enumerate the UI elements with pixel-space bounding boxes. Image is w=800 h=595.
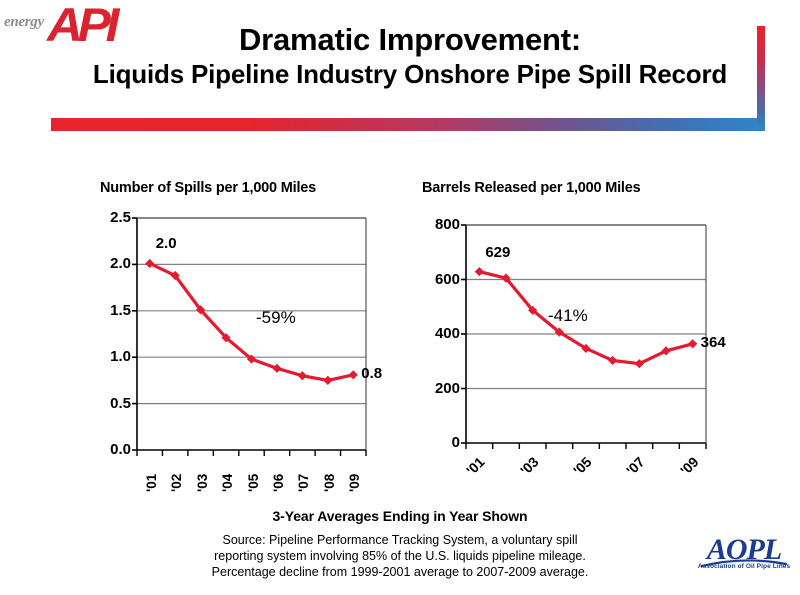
source-line-3: Percentage decline from 1999-2001 averag…: [120, 564, 680, 580]
title-line-1: Dramatic Improvement:: [60, 22, 760, 58]
x-tick-label: '03: [195, 474, 210, 492]
y-tick-label: 800: [404, 216, 460, 233]
data-point-marker: [298, 371, 307, 380]
source-note: Source: Pipeline Performance Tracking Sy…: [120, 532, 680, 580]
data-point-marker: [688, 339, 697, 348]
source-line-1: Source: Pipeline Performance Tracking Sy…: [120, 532, 680, 548]
plot-area-spills: [96, 180, 396, 500]
chart-number-of-spills: Number of Spills per 1,000 Miles 2.52.01…: [96, 180, 396, 500]
x-tick-label: '01: [144, 474, 159, 492]
y-tick-label: 1.5: [75, 302, 131, 319]
data-point-marker: [272, 364, 281, 373]
percent-change-annotation: -59%: [256, 308, 296, 328]
x-tick-label: '04: [220, 474, 235, 492]
x-tick-label: '07: [296, 474, 311, 492]
data-point-marker: [608, 356, 617, 365]
title-line-2: Liquids Pipeline Industry Onshore Pipe S…: [60, 58, 760, 90]
x-tick-label: '06: [271, 474, 286, 492]
y-tick-label: 600: [404, 271, 460, 288]
data-point-marker: [349, 370, 358, 379]
data-point-label: 629: [485, 244, 510, 261]
api-energy-text: energy: [4, 14, 44, 31]
y-tick-label: 0.5: [75, 395, 131, 412]
header-accent-bar-horizontal: [51, 118, 764, 131]
header-accent-bar-vertical: [757, 26, 765, 131]
aopl-swoosh-icon: [700, 558, 788, 568]
y-tick-label: 2.0: [75, 255, 131, 272]
aopl-logo: AOPL Association of Oil Pipe Lines: [694, 534, 794, 584]
data-point-label: 0.8: [361, 365, 382, 382]
y-tick-label: 1.0: [75, 348, 131, 365]
plot-area-barrels: [418, 180, 738, 500]
x-tick-label: '09: [347, 474, 362, 492]
x-tick-label: '08: [322, 474, 337, 492]
y-tick-label: 200: [404, 380, 460, 397]
y-tick-label: 2.5: [75, 209, 131, 226]
data-point-marker: [323, 376, 332, 385]
data-point-label: 2.0: [156, 235, 177, 252]
data-point-marker: [475, 267, 484, 276]
x-tick-label: '02: [169, 474, 184, 492]
data-point-label: 364: [701, 334, 726, 351]
y-tick-label: 400: [404, 325, 460, 342]
source-line-2: reporting system involving 85% of the U.…: [120, 548, 680, 564]
page-title: Dramatic Improvement: Liquids Pipeline I…: [60, 22, 760, 90]
y-tick-label: 0: [404, 434, 460, 451]
percent-change-annotation: -41%: [548, 306, 588, 326]
chart-barrels-released: Barrels Released per 1,000 Miles 8006004…: [418, 180, 738, 500]
x-tick-label: '05: [246, 474, 261, 492]
axis-caption: 3-Year Averages Ending in Year Shown: [0, 508, 800, 524]
y-tick-label: 0.0: [75, 441, 131, 458]
